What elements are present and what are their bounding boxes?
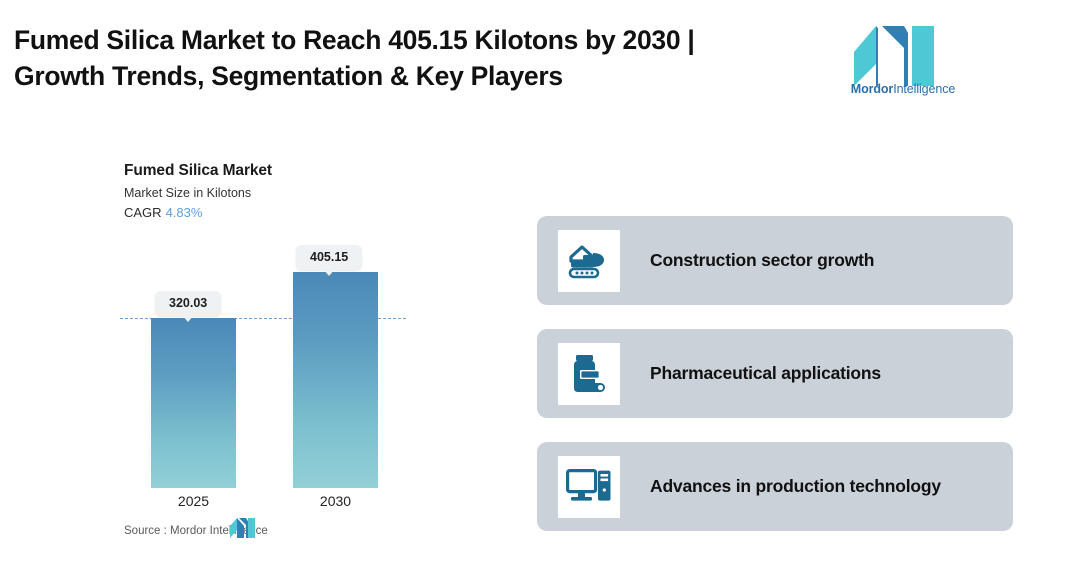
- highlight-card-label: Construction sector growth: [650, 248, 995, 273]
- highlight-card-label: Pharmaceutical applications: [650, 361, 995, 386]
- pill-bottle-icon: [558, 343, 620, 405]
- brand-wordmark: MordorIntelligence: [848, 82, 958, 96]
- source-label: Source :: [124, 525, 167, 537]
- highlight-card-construction[interactable]: Construction sector growth: [537, 216, 1013, 305]
- bar-value-label-2025: 320.03: [155, 291, 221, 316]
- page-title: Fumed Silica Market to Reach 405.15 Kilo…: [14, 22, 814, 94]
- bar-value-label-2030: 405.15: [296, 245, 362, 270]
- brand-wordmark-light: Intelligence: [893, 82, 955, 96]
- infographic-page: Fumed Silica Market to Reach 405.15 Kilo…: [0, 0, 1081, 570]
- excavator-icon: [558, 230, 620, 292]
- bar-chart-plot: 320.03 405.15 2025 2030: [0, 140, 470, 560]
- highlight-card-production-technology[interactable]: Advances in production technology: [537, 442, 1013, 531]
- brand-wordmark-bold: Mordor: [851, 82, 893, 96]
- highlight-card-label: Advances in production technology: [650, 474, 995, 499]
- mordor-intelligence-mini-logo: [230, 518, 258, 540]
- desktop-computer-icon: [558, 456, 620, 518]
- highlight-card-pharmaceutical[interactable]: Pharmaceutical applications: [537, 329, 1013, 418]
- x-axis-tick-2025: 2025: [151, 493, 236, 509]
- highlight-cards-list: Construction sector growth Pharmaceutica…: [537, 216, 1013, 555]
- chart-source: Source : Mordor Intelligence: [124, 525, 424, 537]
- bar-2030: [293, 272, 378, 488]
- x-axis-tick-2030: 2030: [293, 493, 378, 509]
- chart-panel: Fumed Silica Market Market Size in Kilot…: [0, 140, 470, 560]
- bar-2025: [151, 318, 236, 488]
